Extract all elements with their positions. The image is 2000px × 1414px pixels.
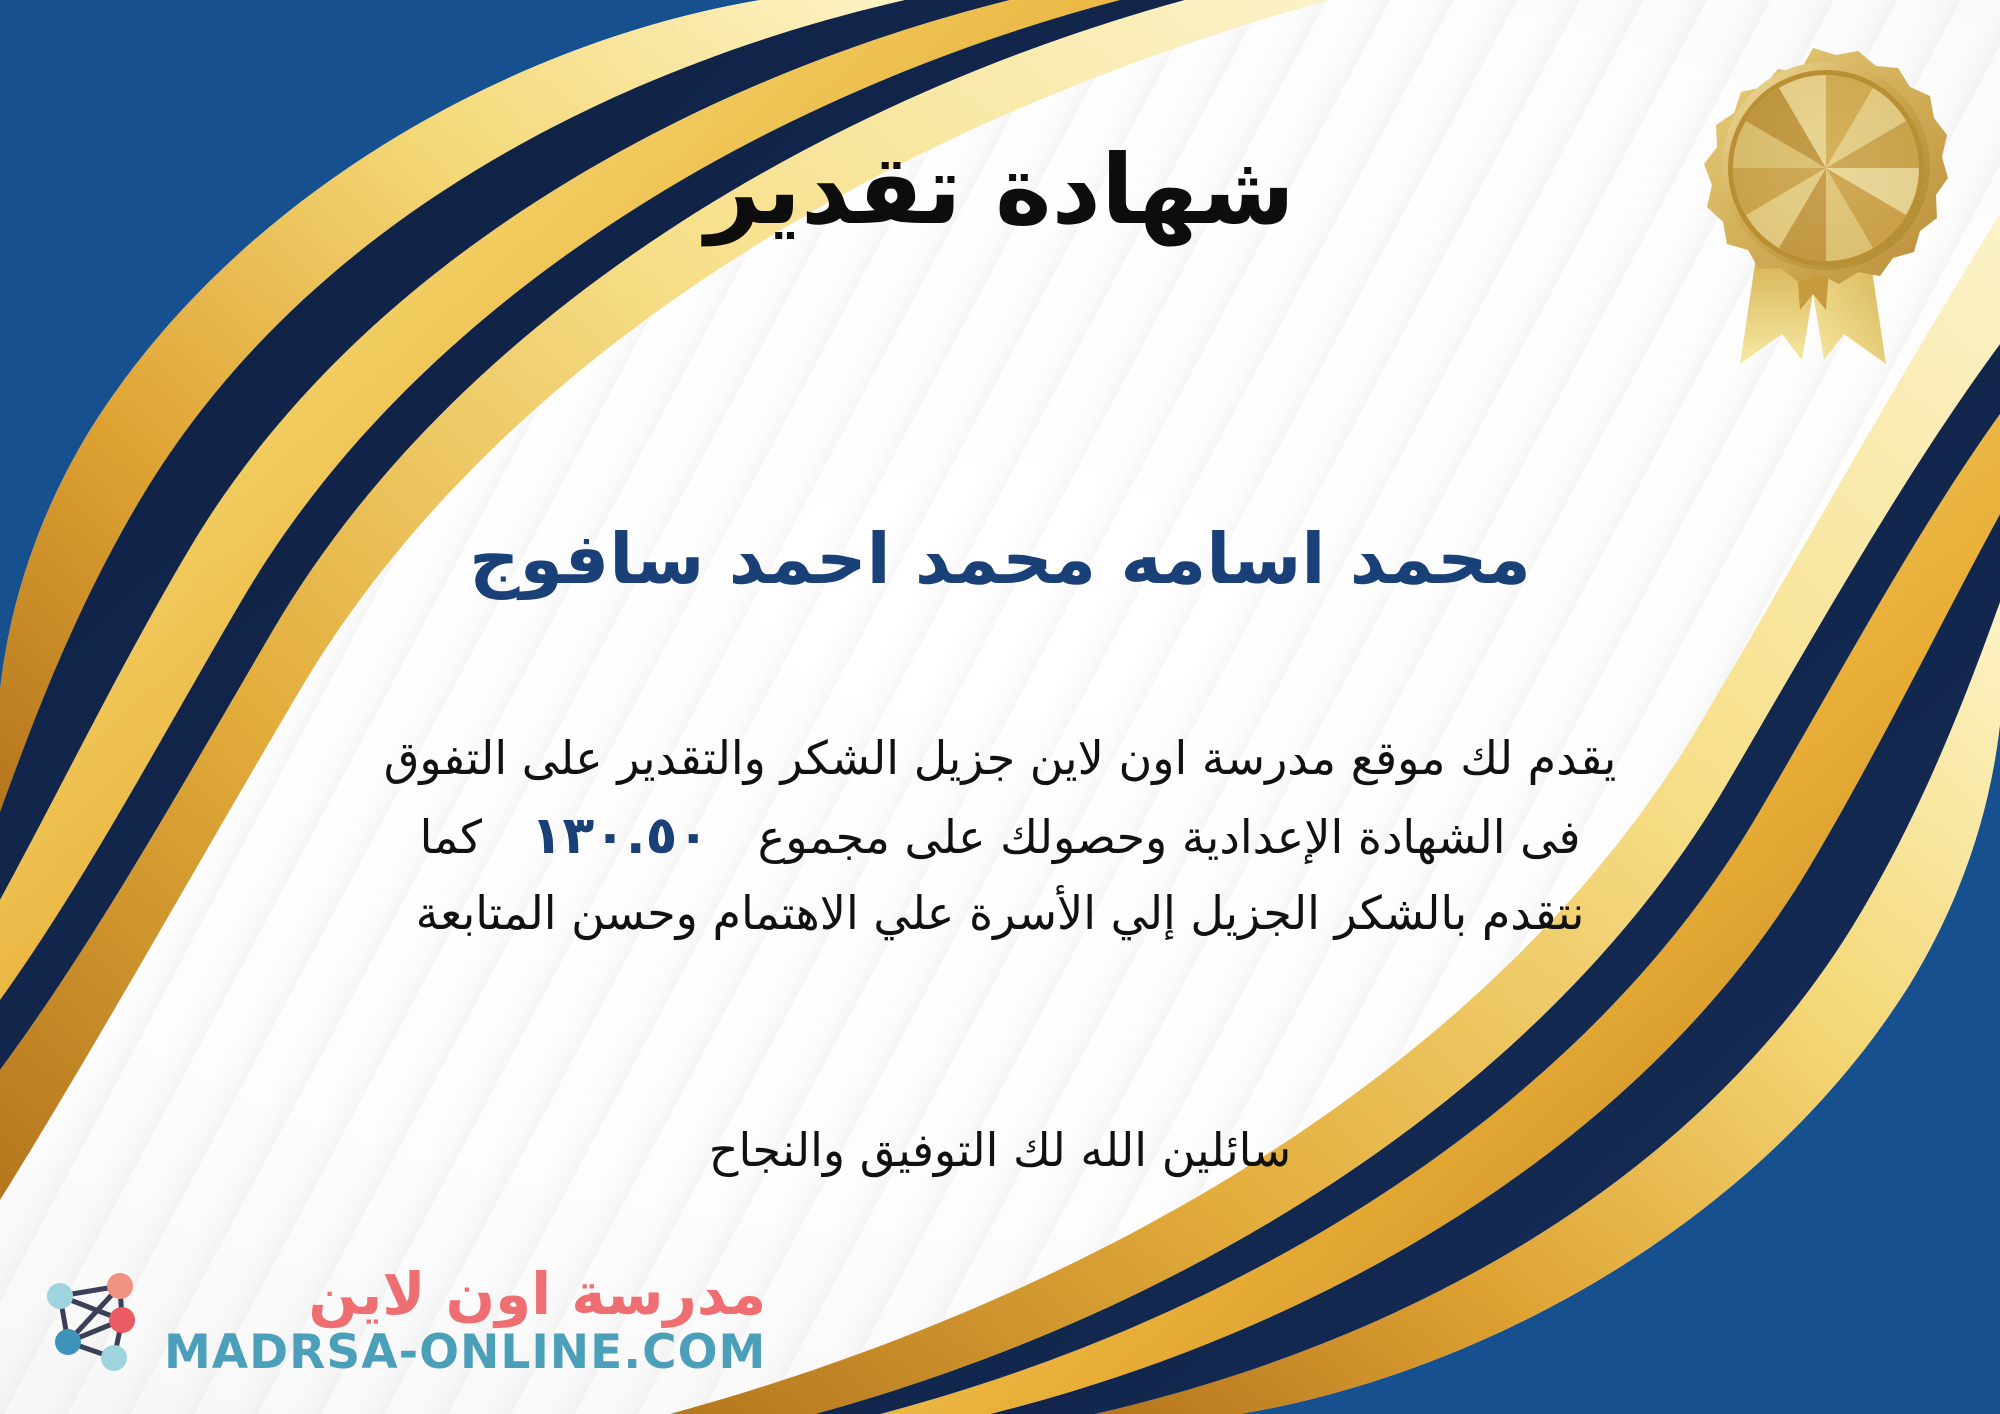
body-line-3: نتقدم بالشكر الجزيل إلي الأسرة علي الاهت… [60, 877, 1940, 950]
certificate-body-text: يقدم لك موقع مدرسة اون لاين جزيل الشكر و… [60, 722, 1940, 950]
network-nodes-icon [34, 1260, 154, 1380]
brand-arabic-name: مدرسة اون لاين [308, 1265, 766, 1323]
brand-logo-text: مدرسة اون لاين MADRSA-ONLINE.COM [164, 1265, 766, 1376]
certificate-content: شهادة تقدير محمد اسامه محمد احمد سافوج ي… [0, 0, 2000, 1414]
body-line-2-right: فى الشهادة الإعدادية وحصولك على مجموع [758, 810, 1581, 864]
brand-logo[interactable]: مدرسة اون لاين MADRSA-ONLINE.COM [34, 1260, 766, 1380]
score-value: ١٣٠.٥٠ [497, 806, 743, 866]
certificate-canvas: شهادة تقدير محمد اسامه محمد احمد سافوج ي… [0, 0, 2000, 1414]
body-line-1: يقدم لك موقع مدرسة اون لاين جزيل الشكر و… [60, 722, 1940, 795]
closing-line: سائلين الله لك التوفيق والنجاح [0, 1118, 2000, 1182]
page-title: شهادة تقدير [0, 138, 2000, 244]
body-line-2: فى الشهادة الإعدادية وحصولك على مجموع ١٣… [60, 795, 1940, 877]
recipient-name: محمد اسامه محمد احمد سافوج [0, 516, 2000, 604]
brand-website: MADRSA-ONLINE.COM [164, 1329, 766, 1376]
body-line-2-left: كما [420, 810, 483, 864]
